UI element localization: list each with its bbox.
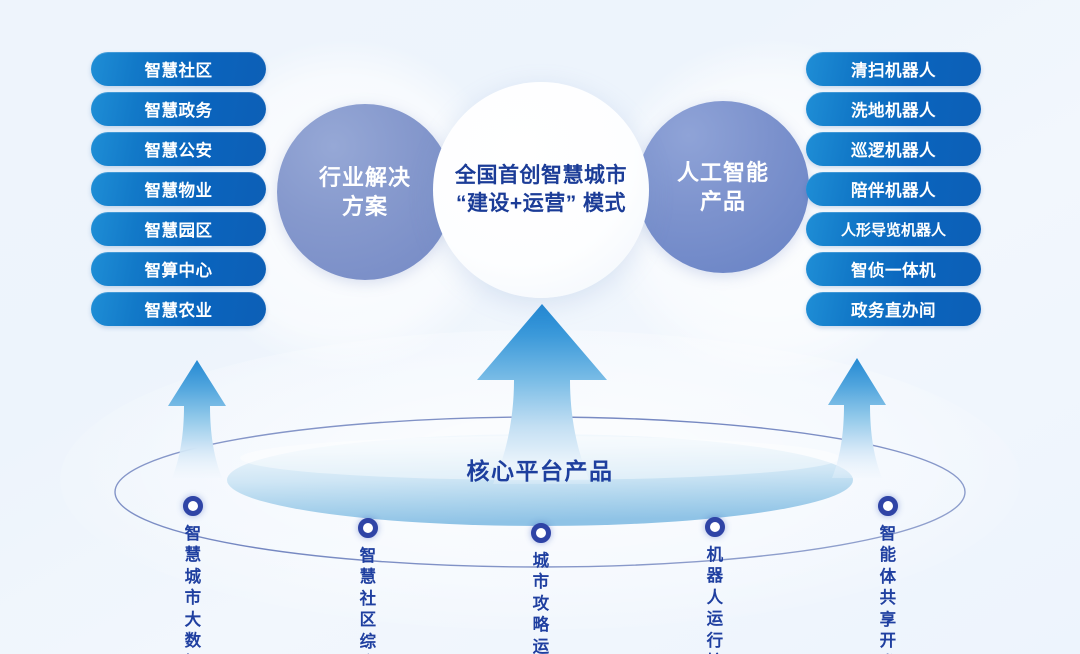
list-item[interactable]: 智慧社区 <box>91 52 266 86</box>
list-item[interactable]: 智慧物业 <box>91 172 266 206</box>
core-platform-title: 核心平台产品 <box>0 452 1080 486</box>
pill-label: 智慧公安 <box>145 137 213 161</box>
industry-solutions-circle[interactable]: 行业解决 方案 <box>277 104 453 280</box>
pill-label: 政务直办间 <box>851 297 936 321</box>
node-label: 智慧社区 综合管控平台 <box>360 546 377 654</box>
node-label: 智能体 共享开发平台 <box>880 524 897 654</box>
pill-label: 智慧园区 <box>145 217 213 241</box>
list-item[interactable]: 巡逻机器人 <box>806 132 981 166</box>
circle-label: 行业解决 方案 <box>319 163 411 221</box>
industry-solutions-list: 智慧社区 智慧政务 智慧公安 智慧物业 智慧园区 智算中心 智慧农业 <box>91 52 266 326</box>
pill-label: 智侦一体机 <box>851 257 936 281</box>
pill-label: 智慧社区 <box>145 57 213 81</box>
node-marker-icon[interactable] <box>878 496 898 516</box>
pill-label: 智慧物业 <box>145 177 213 201</box>
list-item[interactable]: 陪伴机器人 <box>806 172 981 206</box>
node-label: 城市攻略 运营服务平台 <box>533 551 550 654</box>
node-marker-icon[interactable] <box>705 517 725 537</box>
pill-label: 智慧政务 <box>145 97 213 121</box>
pill-label: 人形导览机器人 <box>841 219 946 240</box>
list-item[interactable]: 智慧政务 <box>91 92 266 126</box>
list-item[interactable]: 智慧农业 <box>91 292 266 326</box>
pill-label: 清扫机器人 <box>851 57 936 81</box>
pill-label: 巡逻机器人 <box>851 137 936 161</box>
diagram-canvas: 智慧社区 智慧政务 智慧公安 智慧物业 智慧园区 智算中心 智慧农业 清扫机器人… <box>0 0 1080 654</box>
node-marker-icon[interactable] <box>531 523 551 543</box>
pill-label: 陪伴机器人 <box>851 177 936 201</box>
ai-products-circle[interactable]: 人工智能 产品 <box>637 101 809 273</box>
list-item[interactable]: 清扫机器人 <box>806 52 981 86</box>
pill-label: 智慧农业 <box>145 297 213 321</box>
list-item[interactable]: 智慧园区 <box>91 212 266 246</box>
list-item[interactable]: 智侦一体机 <box>806 252 981 286</box>
node-marker-icon[interactable] <box>183 496 203 516</box>
list-item[interactable]: 洗地机器人 <box>806 92 981 126</box>
list-item[interactable]: 智算中心 <box>91 252 266 286</box>
node-label: 机器人 运行控制平台 <box>707 545 724 654</box>
pill-label: 洗地机器人 <box>851 97 936 121</box>
list-item[interactable]: 人形导览机器人 <box>806 212 981 246</box>
node-label: 智慧城市 大数据平台 <box>185 524 202 654</box>
core-model-circle[interactable]: 全国首创智慧城市 “建设+运营” 模式 <box>433 82 649 298</box>
ai-products-list: 清扫机器人 洗地机器人 巡逻机器人 陪伴机器人 人形导览机器人 智侦一体机 政务… <box>806 52 981 326</box>
circle-label: 人工智能 产品 <box>677 158 769 216</box>
list-item[interactable]: 政务直办间 <box>806 292 981 326</box>
circle-label: 全国首创智慧城市 “建设+运营” 模式 <box>455 162 627 217</box>
list-item[interactable]: 智慧公安 <box>91 132 266 166</box>
pill-label: 智算中心 <box>145 257 213 281</box>
node-marker-icon[interactable] <box>358 518 378 538</box>
